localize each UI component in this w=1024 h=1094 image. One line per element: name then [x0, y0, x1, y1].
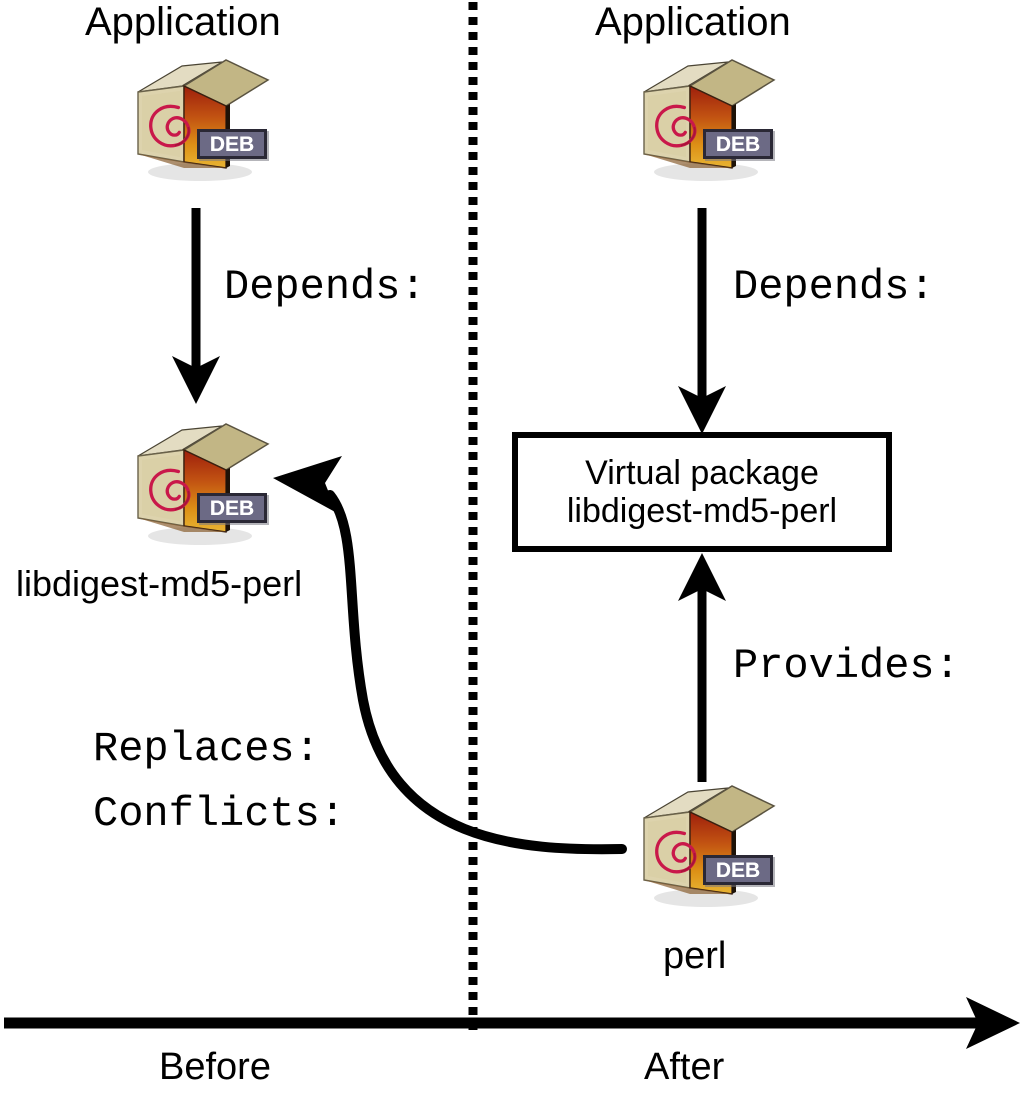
label-perl: perl: [663, 937, 726, 975]
deb-badge: DEB: [197, 493, 267, 523]
arrow-right-provides: [678, 553, 726, 782]
deb-badge: DEB: [703, 129, 773, 159]
package-app-after: DEB: [632, 56, 780, 184]
arrow-right-depends: [678, 208, 726, 434]
deb-badge: DEB: [197, 129, 267, 159]
diagram-canvas: DEB DEB DEB DEB Virtual package libdiges…: [0, 0, 1024, 1094]
title-application-before: Application: [85, 2, 281, 42]
timeline-label-before: Before: [159, 1048, 271, 1086]
label-depends-before: Depends:: [224, 266, 426, 308]
virtual-package-title: Virtual package: [585, 454, 819, 492]
package-app-before: DEB: [126, 56, 274, 184]
timeline-axis: [4, 997, 1020, 1049]
label-conflicts: Conflicts:: [93, 793, 345, 835]
label-libdigest-md5-perl: libdigest-md5-perl: [16, 566, 302, 602]
label-replaces: Replaces:: [93, 728, 320, 770]
deb-badge-label: DEB: [716, 860, 760, 881]
deb-badge-label: DEB: [716, 134, 760, 155]
arrow-left-depends: [172, 208, 220, 404]
virtual-package-box: Virtual package libdigest-md5-perl: [512, 432, 892, 552]
deb-badge-label: DEB: [210, 498, 254, 519]
virtual-package-name: libdigest-md5-perl: [567, 492, 837, 530]
package-perl: DEB: [632, 782, 780, 910]
label-provides: Provides:: [733, 645, 960, 687]
deb-badge: DEB: [703, 855, 773, 885]
title-application-after: Application: [595, 2, 791, 42]
deb-badge-label: DEB: [210, 134, 254, 155]
package-libdigest-md5-perl: DEB: [126, 420, 274, 548]
timeline-label-after: After: [644, 1048, 724, 1086]
label-depends-after: Depends:: [733, 266, 935, 308]
